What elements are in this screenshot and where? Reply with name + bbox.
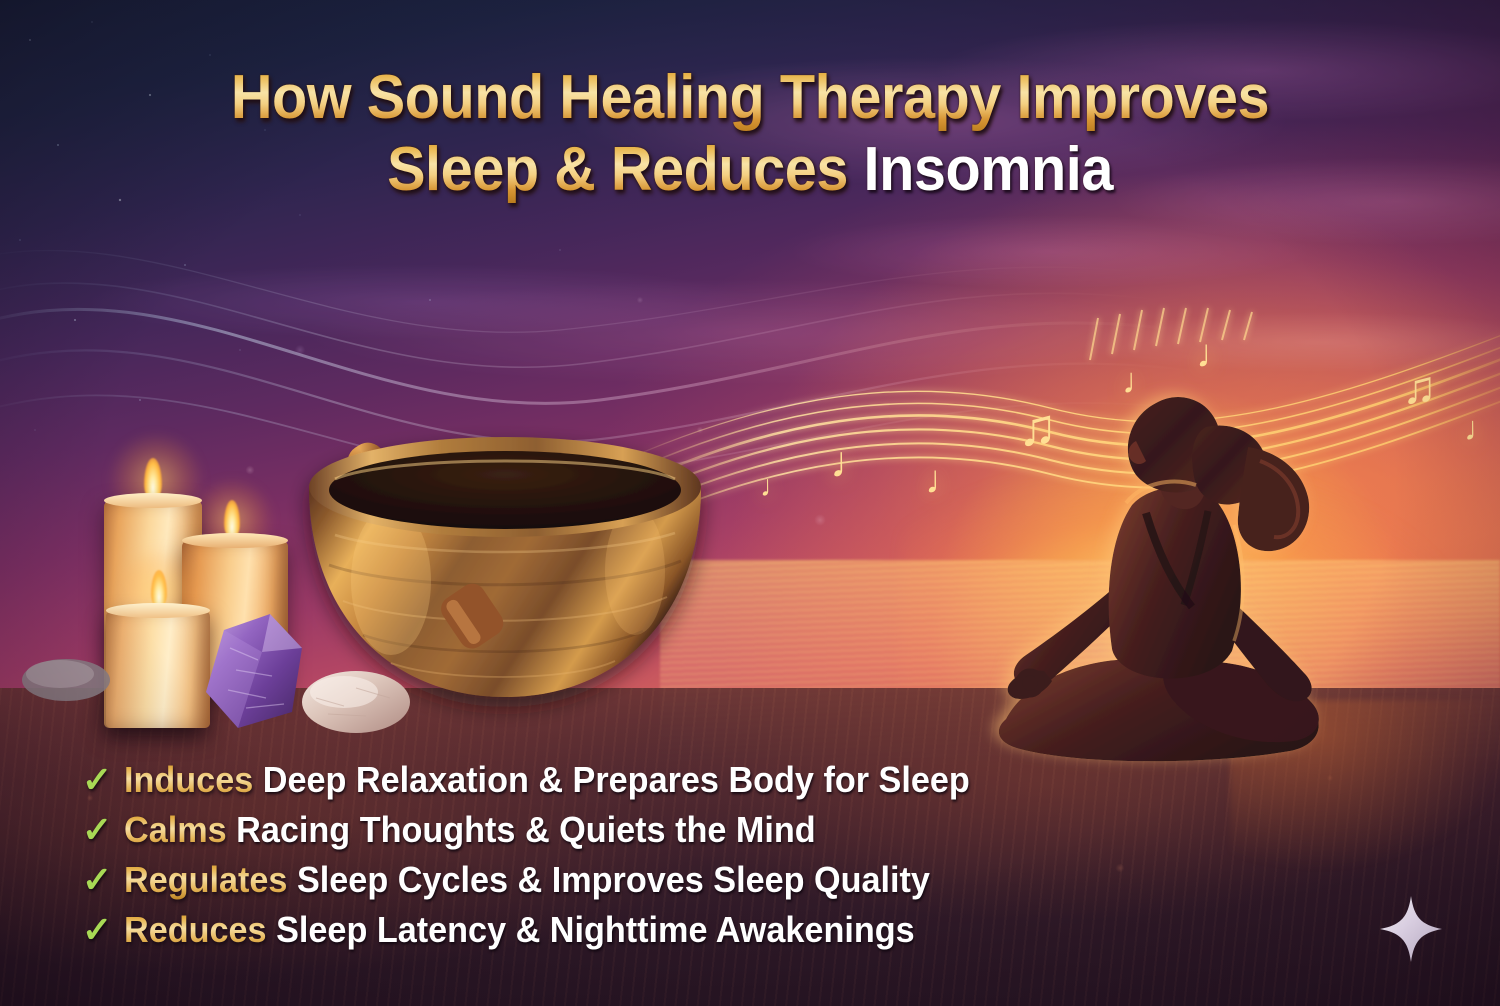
title-line-1: How Sound Healing Therapy Improves [53,62,1448,134]
title-line-2-white: Insomnia [864,135,1113,204]
stone-grey [20,648,112,702]
benefit-keyword: Calms [124,809,227,850]
music-note-icon: ♩ [760,470,790,504]
list-item: ✓ Induces Deep Relaxation & Prepares Bod… [82,758,1014,808]
sparkle-star-icon [1380,896,1442,962]
music-note-icon: ♩ [830,438,874,488]
benefit-text: Regulates Sleep Cycles & Improves Sleep … [124,858,930,902]
meditating-woman-silhouette [960,385,1380,775]
list-item: ✓ Reduces Sleep Latency & Nighttime Awak… [82,908,1014,958]
title-line-2: Sleep & Reduces Insomnia [53,134,1448,206]
checkmark-icon: ✓ [82,862,124,898]
list-item: ✓ Calms Racing Thoughts & Quiets the Min… [82,808,1014,858]
benefit-keyword: Regulates [124,859,287,900]
benefit-text: Calms Racing Thoughts & Quiets the Mind [124,808,816,852]
music-note-icon: ♫ [1402,360,1437,414]
checkmark-icon: ✓ [82,762,124,798]
benefit-rest: Sleep Latency & Nighttime Awakenings [276,909,915,950]
checkmark-icon: ✓ [82,912,124,948]
list-item: ✓ Regulates Sleep Cycles & Improves Slee… [82,858,1014,908]
music-note-icon: ♩ [1464,410,1498,449]
poster-canvas: ♩ ♩ ♫ ♩ ♩ ♫ ♩ ♩ [0,0,1500,1006]
benefit-keyword: Induces [124,759,253,800]
amethyst-crystal [200,608,308,730]
checkmark-icon: ✓ [82,812,124,848]
benefit-rest: Deep Relaxation & Prepares Body for Slee… [263,759,970,800]
benefit-keyword: Reduces [124,909,267,950]
benefits-list: ✓ Induces Deep Relaxation & Prepares Bod… [82,758,1014,958]
music-note-icon: ♩ [925,458,965,503]
page-title: How Sound Healing Therapy Improves Sleep… [0,62,1500,206]
music-note-icon: ♩ [1196,332,1236,377]
title-line-2-gold: Sleep & Reduces [387,135,848,204]
benefit-text: Induces Deep Relaxation & Prepares Body … [124,758,970,802]
benefit-text: Reduces Sleep Latency & Nighttime Awaken… [124,908,915,952]
candle-small [106,610,210,728]
benefit-rest: Sleep Cycles & Improves Sleep Quality [297,859,930,900]
quartz-crystal [300,668,412,734]
benefit-rest: Racing Thoughts & Quiets the Mind [236,809,815,850]
